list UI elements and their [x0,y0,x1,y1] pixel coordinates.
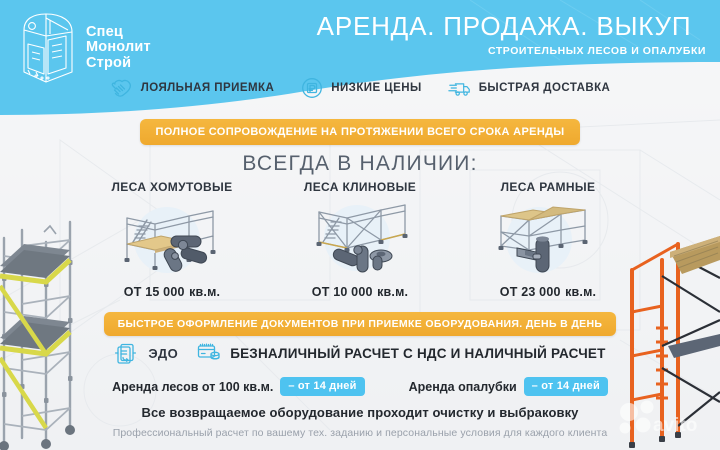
logo-line-3: Строй [86,56,151,72]
term-label: Аренда опалубки [409,380,517,394]
price-unit: кв.м. [565,285,596,299]
mobile-scaffold-tower-photo [0,216,104,450]
price-value: ОТ 15 000 [124,285,185,299]
price-unit: кв.м. [189,285,220,299]
left-scaffold-photo [0,216,104,450]
term-badge: – от 14 дней [524,377,608,396]
edo-group: ЭДО [114,341,178,365]
header: Спец Монолит Строй АРЕНДА. ПРОДАЖА. ВЫКУ… [0,0,720,118]
subheadline: СТРОИТЕЛЬНЫХ ЛЕСОВ И ОПАЛУБКИ [300,45,708,57]
clamp-scaffold-art [97,198,247,276]
product-name: ЛЕСА КЛИНОВЫЕ [304,180,416,194]
documents-banner: БЫСТРОЕ ОФОРМЛЕНИЕ ДОКУМЕНТОВ ПРИ ПРИЕМК… [104,312,616,336]
headline: АРЕНДА. ПРОДАЖА. ВЫКУП [300,13,708,39]
benefit-item: ЛОЯЛЬНАЯ ПРИЕМКА [110,76,275,100]
rosette-connector-detail [332,246,392,272]
payment-methods-group: БЕЗНАЛИЧНЫЙ РАСЧЕТ С НДС И НАЛИЧНЫЙ РАСЧ… [196,341,605,365]
building-crane-logo-icon [16,10,80,86]
logo-line-1: Спец [86,25,151,41]
support-banner-text: ПОЛНОЕ СОПРОВОЖДЕНИЕ НА ПРОТЯЖЕНИИ ВСЕГО… [156,126,565,138]
logo-wordmark: Спец Монолит Строй [86,25,151,72]
price-cell: ОТ 23 000 кв.м. [454,283,642,301]
price-value: ОТ 10 000 [312,285,373,299]
frame-scaffold-art [473,198,623,276]
price-value: ОТ 23 000 [500,285,561,299]
benefits-row: ЛОЯЛЬНАЯ ПРИЕМКА НИЗКИЕ ЦЕНЫ [0,76,720,100]
electronic-document-icon [114,341,140,365]
fine-print-note: Профессиональный расчет по вашему тех. з… [0,427,720,439]
wedge-scaffold-art [285,198,435,276]
advertising-banner: Спец Монолит Строй АРЕНДА. ПРОДАЖА. ВЫКУ… [0,0,720,450]
payment-methods-label: БЕЗНАЛИЧНЫЙ РАСЧЕТ С НДС И НАЛИЧНЫЙ РАСЧ… [230,346,605,361]
logo-line-2: Монолит [86,40,151,56]
handshake-icon [110,76,134,100]
edo-label: ЭДО [148,346,178,361]
price-tag-ruble-icon [300,76,324,100]
benefit-label: БЫСТРАЯ ДОСТАВКА [479,82,611,94]
term-label: Аренда лесов от 100 кв.м. [112,380,273,394]
documents-banner-text: БЫСТРОЕ ОФОРМЛЕНИЕ ДОКУМЕНТОВ ПРИ ПРИЕМК… [118,318,603,330]
term-item: Аренда опалубки – от 14 дней [409,377,608,396]
benefit-item: НИЗКИЕ ЦЕНЫ [300,76,422,100]
term-badge: – от 14 дней [280,377,364,396]
headline-block: АРЕНДА. ПРОДАЖА. ВЫКУП СТРОИТЕЛЬНЫХ ЛЕСО… [300,13,708,57]
stock-title: ВСЕГДА В НАЛИЧИИ: [0,152,720,176]
benefit-item: БЫСТРАЯ ДОСТАВКА [448,76,611,100]
price-cell: ОТ 10 000 кв.м. [266,283,454,301]
term-item: Аренда лесов от 100 кв.м. – от 14 дней [112,377,364,396]
delivery-truck-icon [448,76,472,100]
cleaning-note: Все возвращаемое оборудование проходит о… [0,405,720,420]
terms-row: Аренда лесов от 100 кв.м. – от 14 дней А… [0,377,720,396]
payment-row: ЭДО БЕЗНАЛИЧНЫЙ РАСЧЕТ С НДС И НАЛИЧНЫЙ … [0,341,720,365]
product-name: ЛЕСА ХОМУТОВЫЕ [112,180,233,194]
svg-text:avito: avito [653,415,697,436]
benefit-label: НИЗКИЕ ЦЕНЫ [331,82,422,94]
prices-row: ОТ 15 000 кв.м. ОТ 10 000 кв.м. ОТ 23 00… [78,283,642,301]
avito-watermark: avito [617,398,717,440]
price-unit: кв.м. [377,285,408,299]
price-cell: ОТ 15 000 кв.м. [78,283,266,301]
support-banner: ПОЛНОЕ СОПРОВОЖДЕНИЕ НА ПРОТЯЖЕНИИ ВСЕГО… [140,119,580,145]
benefit-label: ЛОЯЛЬНАЯ ПРИЕМКА [141,82,275,94]
card-coins-icon [196,341,222,365]
product-name: ЛЕСА РАМНЫЕ [501,180,596,194]
